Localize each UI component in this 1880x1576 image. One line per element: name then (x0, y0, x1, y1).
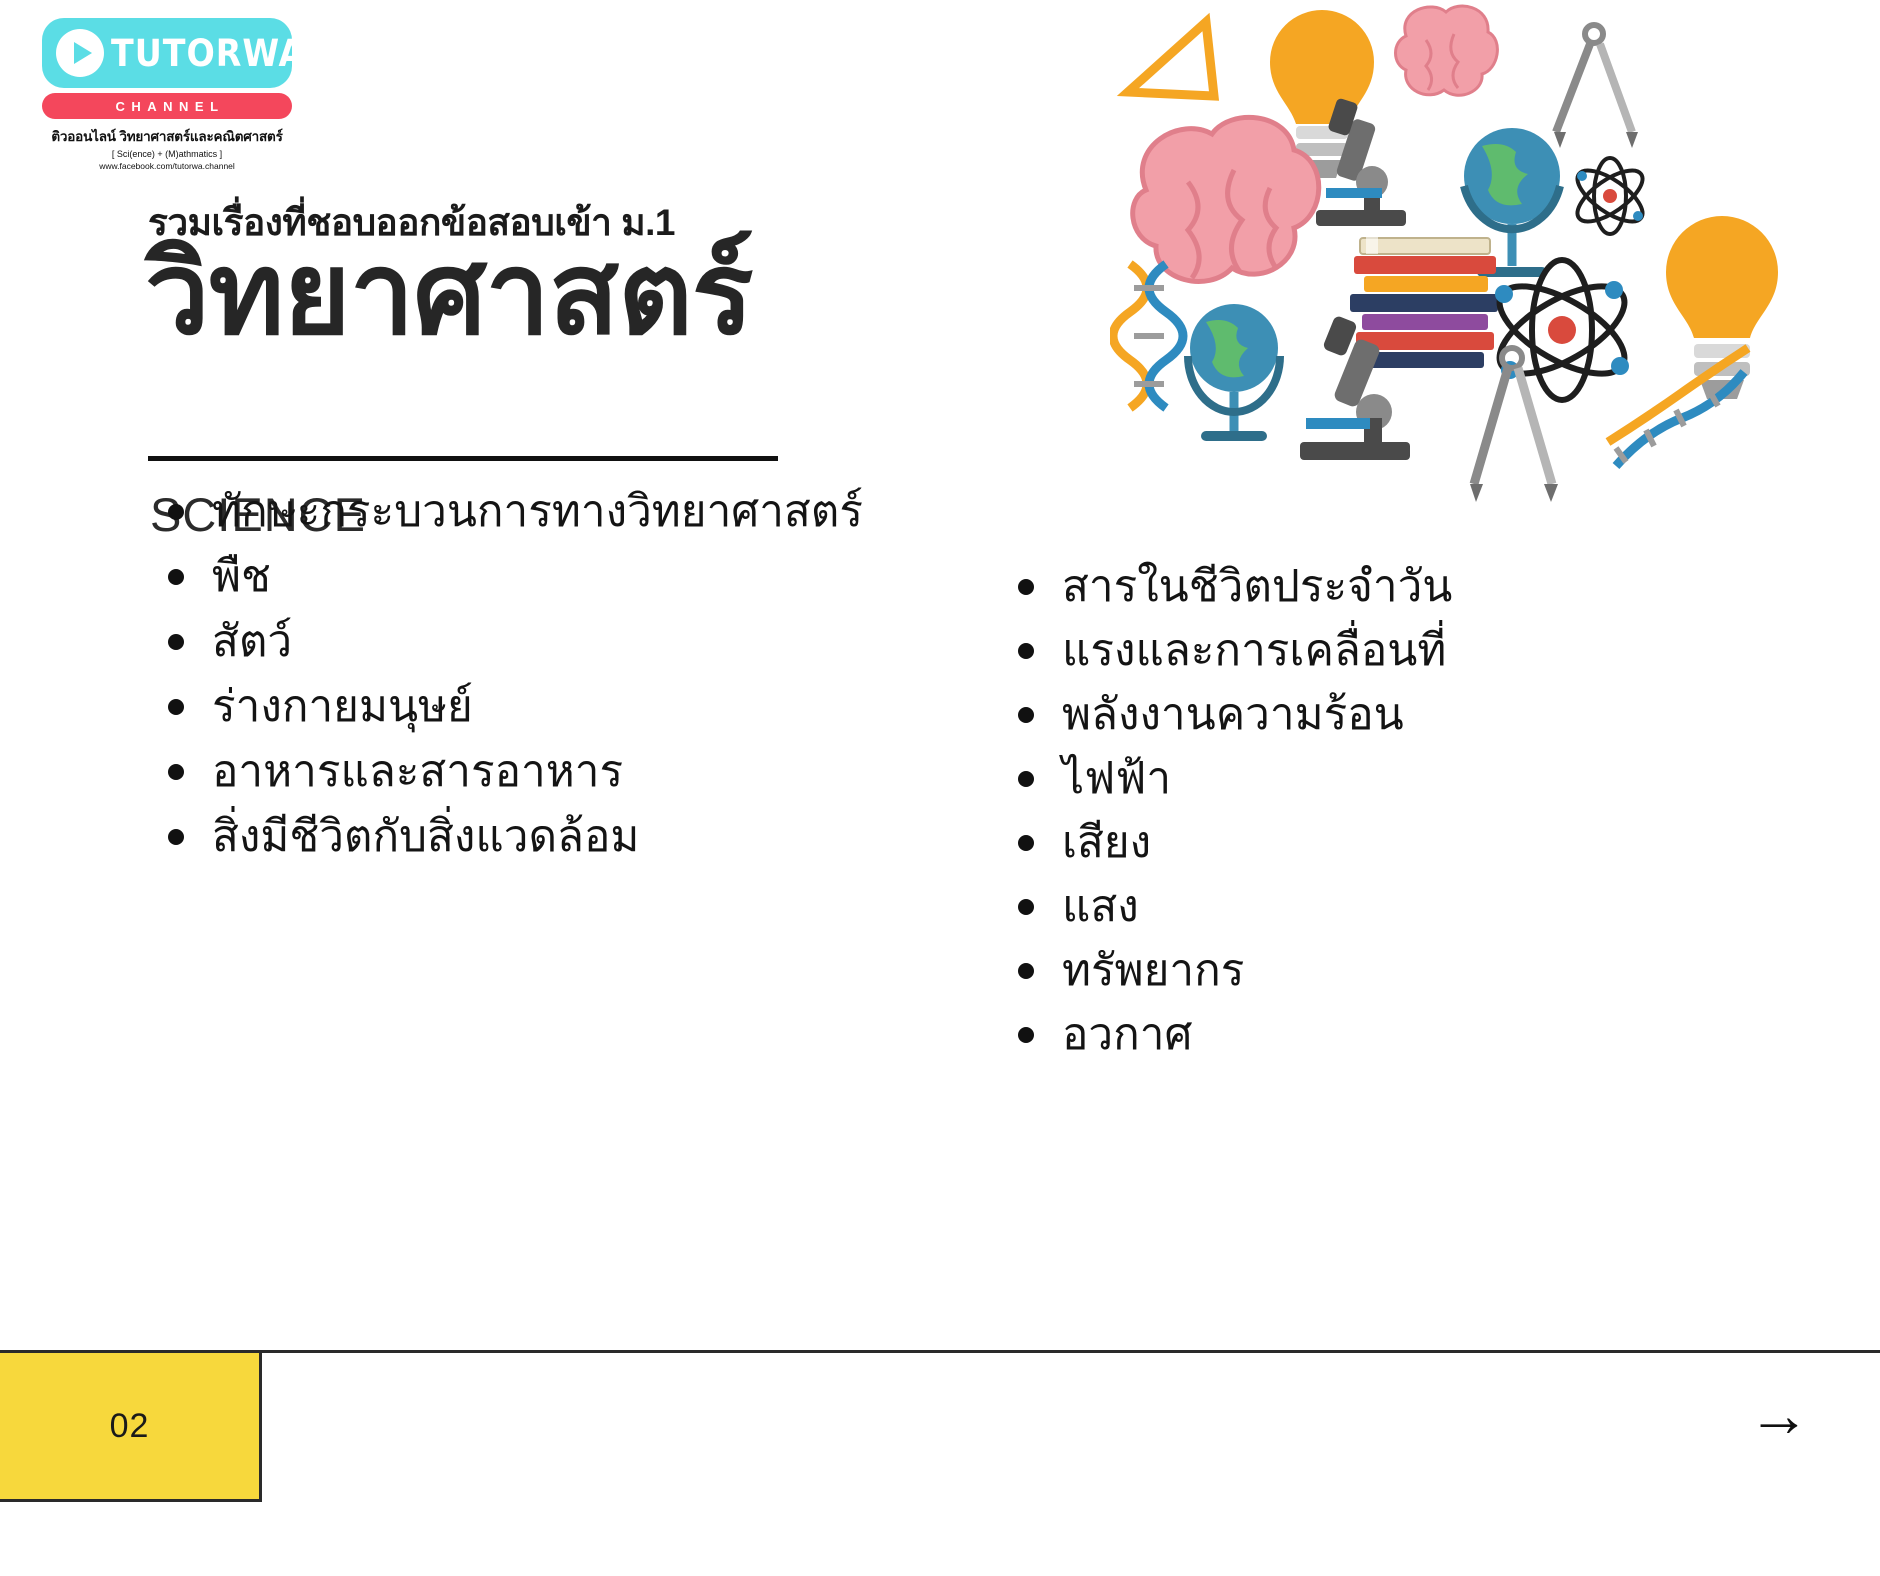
compass-divider-icon-top (1554, 25, 1638, 148)
atom-icon-upper (1570, 158, 1651, 234)
list-item-label: ร่างกายมนุษย์ (212, 682, 473, 731)
set-square-ruler-icon (1128, 22, 1214, 96)
list-item-label: อาหารและสารอาหาร (212, 747, 623, 796)
logo-tagline-english: [ Sci(ence) + (M)athmatics ] (42, 149, 292, 159)
logo-channel-bar: CHANNEL (42, 93, 292, 119)
list-item: สิ่งมีชีวิตกับสิ่งแวดล้อม (160, 815, 880, 859)
logo-facebook-url: www.facebook.com/tutorwa.channel (42, 161, 292, 171)
list-item-label: พลังงานความร้อน (1062, 690, 1404, 739)
lightbulb-icon-right (1666, 216, 1778, 399)
brand-logo: TUTORWA CHANNEL ติวออนไลน์ วิทยาศาสตร์แล… (42, 18, 292, 171)
list-item-label: อวกาศ (1062, 1010, 1192, 1059)
list-item-label: ทักษะกระบวนการทางวิทยาศาสตร์ (212, 487, 863, 536)
list-item: อวกาศ (1010, 1013, 1610, 1057)
bullet-dot-icon (1018, 899, 1034, 915)
bullet-dot-icon (1018, 579, 1034, 595)
list-item: อาหารและสารอาหาร (160, 750, 880, 794)
bullet-dot-icon (168, 504, 184, 520)
bullet-dot-icon (1018, 771, 1034, 787)
list-item: แรงและการเคลื่อนที่ (1010, 629, 1610, 673)
footer-divider (0, 1350, 1880, 1353)
title-divider (148, 456, 778, 461)
next-arrow-icon[interactable]: → (1748, 1385, 1810, 1447)
bullet-dot-icon (168, 634, 184, 650)
list-item: แสง (1010, 885, 1610, 929)
logo-primary-bar: TUTORWA (42, 18, 292, 88)
list-item-label: ไฟฟ้า (1062, 754, 1171, 803)
bullet-dot-icon (1018, 835, 1034, 851)
list-item-label: เสียง (1062, 818, 1151, 867)
logo-tagline-thai: ติวออนไลน์ วิทยาศาสตร์และคณิตศาสตร์ (42, 125, 292, 147)
bullet-dot-icon (1018, 643, 1034, 659)
list-item: สัตว์ (160, 620, 880, 664)
list-item: ไฟฟ้า (1010, 757, 1610, 801)
list-item-label: พืช (212, 552, 271, 601)
page-number: 02 (110, 1407, 150, 1446)
list-item: ทรัพยากร (1010, 949, 1610, 993)
bullet-dot-icon (168, 764, 184, 780)
bullet-dot-icon (168, 699, 184, 715)
page-title: วิทยาศาสตร์ (145, 228, 753, 360)
list-item-label: สิ่งมีชีวิตกับสิ่งแวดล้อม (212, 812, 639, 861)
play-triangle-icon (56, 29, 104, 77)
bullet-dot-icon (168, 569, 184, 585)
logo-wordmark: TUTORWA (111, 32, 305, 75)
topic-list-right: สารในชีวิตประจำวัน แรงและการเคลื่อนที่ พ… (1010, 565, 1610, 1077)
brain-icon-small (1396, 6, 1498, 95)
globe-icon-lower (1188, 304, 1280, 436)
list-item-label: สัตว์ (212, 617, 292, 666)
dna-helix-icon-right (1608, 348, 1748, 466)
page-number-box: 02 (0, 1350, 262, 1502)
list-item-label: แสง (1062, 882, 1139, 931)
list-item: ทักษะกระบวนการทางวิทยาศาสตร์ (160, 490, 880, 534)
bullet-dot-icon (1018, 1027, 1034, 1043)
bullet-dot-icon (1018, 707, 1034, 723)
list-item-label: ทรัพยากร (1062, 946, 1244, 995)
list-item-label: แรงและการเคลื่อนที่ (1062, 626, 1446, 675)
bullet-dot-icon (168, 829, 184, 845)
logo-channel-label: CHANNEL (109, 99, 224, 114)
list-item: พลังงานความร้อน (1010, 693, 1610, 737)
brain-icon-large (1133, 117, 1319, 281)
topic-list-left: ทักษะกระบวนการทางวิทยาศาสตร์ พืช สัตว์ ร… (160, 490, 880, 880)
list-item: เสียง (1010, 821, 1610, 865)
bullet-dot-icon (1018, 963, 1034, 979)
science-icons-collage (1110, 0, 1880, 600)
list-item: ร่างกายมนุษย์ (160, 685, 880, 729)
list-item: พืช (160, 555, 880, 599)
dna-helix-icon-left (1113, 264, 1183, 408)
